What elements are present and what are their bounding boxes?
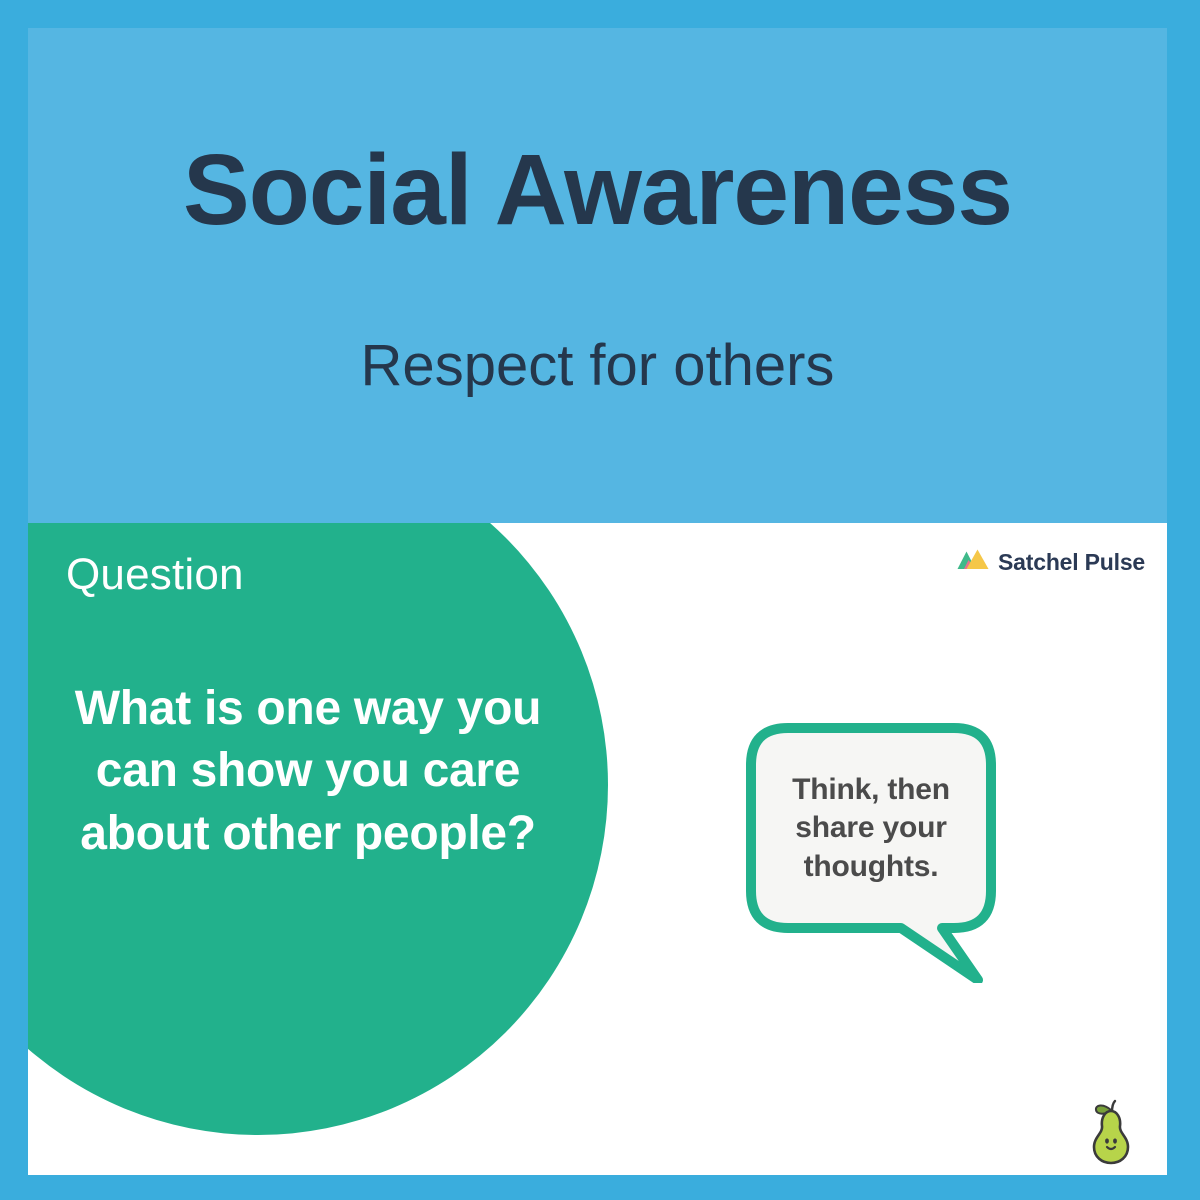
question-text: What is one way you can show you care ab… bbox=[58, 678, 558, 865]
prompt-text: Think, then share your thoughts. bbox=[780, 771, 962, 886]
content-panel: Question What is one way you can show yo… bbox=[28, 523, 1167, 1175]
brand-logo: Satchel Pulse bbox=[957, 549, 1145, 576]
mountain-triangles-icon bbox=[957, 549, 989, 576]
header-panel: Social Awareness Respect for others bbox=[28, 28, 1167, 523]
brand-name: Satchel Pulse bbox=[998, 551, 1145, 574]
page-subtitle: Respect for others bbox=[361, 337, 835, 395]
question-label: Question bbox=[66, 553, 244, 597]
pear-character-icon bbox=[1085, 1099, 1137, 1165]
page-title: Social Awareness bbox=[183, 140, 1012, 240]
slide-canvas: Social Awareness Respect for others Ques… bbox=[0, 0, 1200, 1200]
prompt-speech-bubble: Think, then share your thoughts. bbox=[746, 723, 996, 983]
